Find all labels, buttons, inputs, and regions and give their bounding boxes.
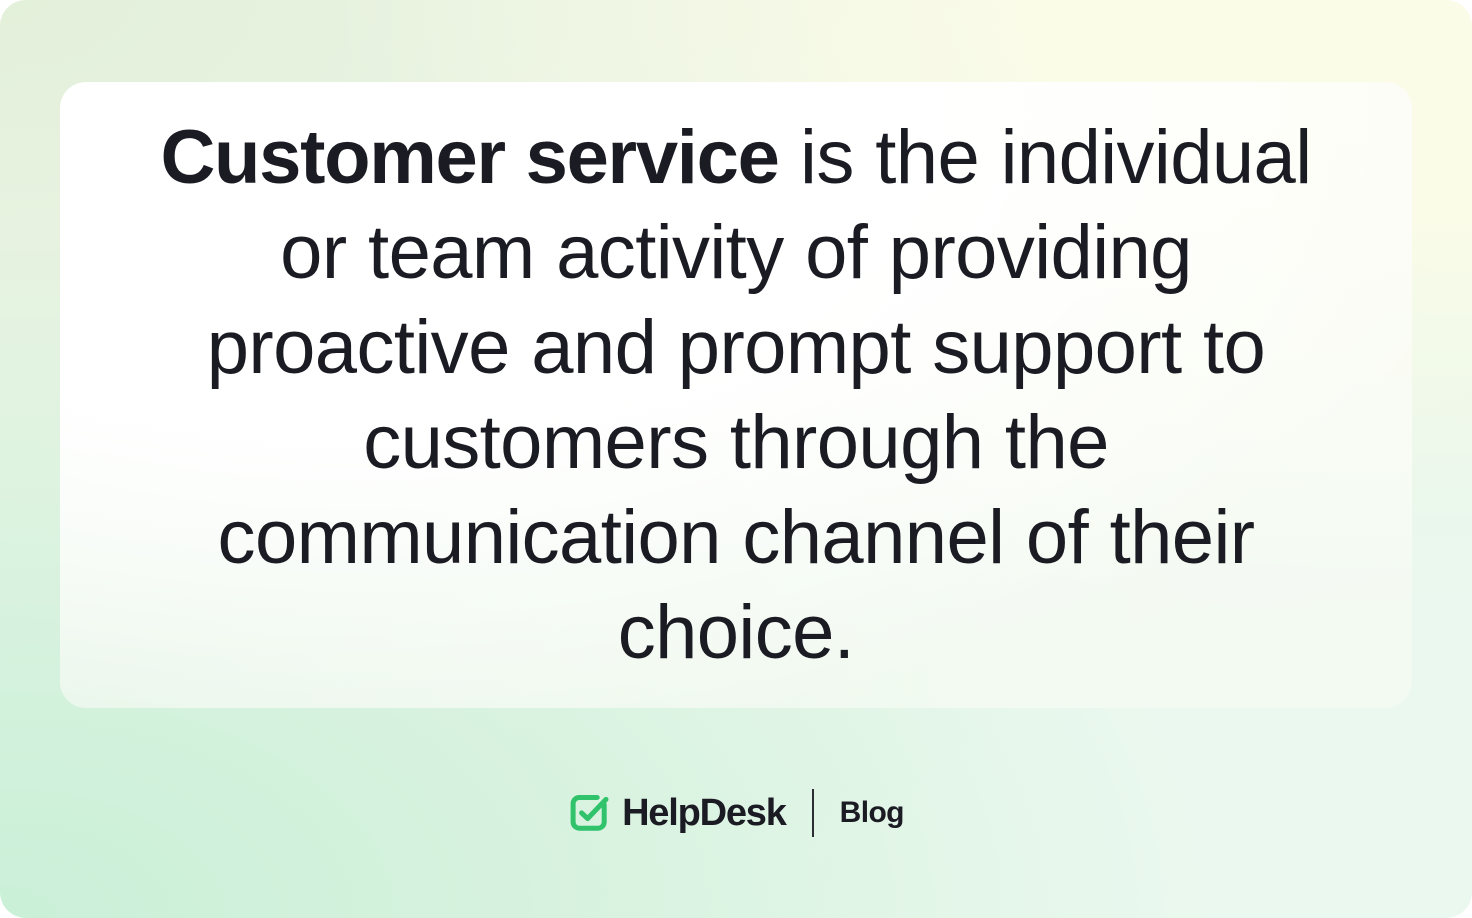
brand-divider xyxy=(812,789,814,837)
helpdesk-wordmark: HelpDesk xyxy=(622,794,786,832)
brand-section-label[interactable]: Blog xyxy=(840,798,904,828)
brand-lockup: HelpDesk Blog xyxy=(0,778,1472,848)
quote-lead-phrase: Customer service xyxy=(160,115,778,200)
helpdesk-logo[interactable]: HelpDesk xyxy=(568,792,786,834)
checkbox-check-icon xyxy=(568,792,610,834)
quote-poster: Customer service is the individual or te… xyxy=(0,0,1472,918)
quote-card: Customer service is the individual or te… xyxy=(60,82,1412,708)
quote-text: Customer service is the individual or te… xyxy=(146,110,1326,680)
